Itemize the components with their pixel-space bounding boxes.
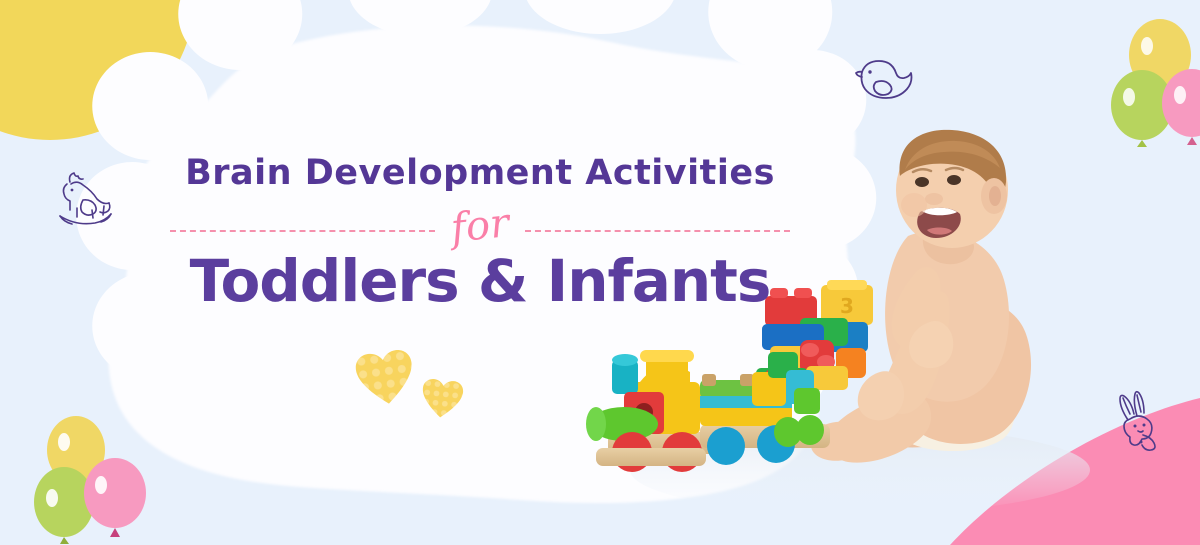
dashed-line-left bbox=[170, 230, 435, 232]
baby-eye-right bbox=[947, 175, 961, 185]
baby-eye-left bbox=[915, 177, 929, 187]
connector-word: for bbox=[443, 202, 517, 249]
headline-block: Brain Development Activities for Toddler… bbox=[170, 155, 790, 310]
train-wheel bbox=[707, 427, 745, 465]
headline-main-line: Toddlers & Infants bbox=[170, 252, 790, 310]
banner-root: 3 bbox=[0, 0, 1200, 545]
headline-top-line: Brain Development Activities bbox=[170, 155, 790, 192]
block-number: 3 bbox=[840, 294, 854, 318]
divider-row: for bbox=[170, 202, 790, 258]
dashed-line-right bbox=[525, 230, 790, 232]
